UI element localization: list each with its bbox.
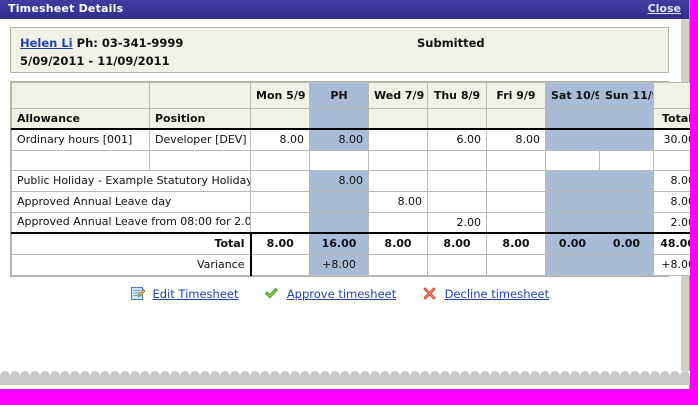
table-row-total: Total 8.00 16.00 8.00 8.00 8.00 0.00 0.0… bbox=[12, 233, 698, 254]
decline-timesheet-action[interactable]: Decline timesheet bbox=[422, 286, 549, 301]
spacer-ph bbox=[310, 150, 369, 170]
public-holiday-description: Public Holiday - Example Statutory Holid… bbox=[12, 170, 251, 191]
subheader-wed bbox=[369, 109, 428, 130]
torn-edge-decoration bbox=[0, 371, 690, 389]
spacer-sun bbox=[600, 150, 654, 170]
spacer-wed bbox=[369, 150, 428, 170]
al1-cell-sat bbox=[546, 191, 600, 212]
subheader-mon bbox=[251, 109, 310, 130]
employee-summary: Helen LiPh: 03-341-9999 5/09/2011 - 11/0… bbox=[20, 35, 183, 69]
entry-cell-thu[interactable]: 6.00 bbox=[428, 129, 487, 150]
close-link[interactable]: Close bbox=[648, 2, 681, 15]
al2-cell-sat bbox=[546, 212, 600, 233]
table-header-labels: Allowance Position Total bbox=[12, 109, 698, 130]
subheader-fri bbox=[487, 109, 546, 130]
table-row-annual-leave-partial: Approved Annual Leave from 08:00 for 2.0… bbox=[12, 212, 698, 233]
al1-cell-sun bbox=[600, 191, 654, 212]
day-header-thu: Thu 8/9 bbox=[428, 83, 487, 109]
spacer-fri bbox=[487, 150, 546, 170]
entry-allowance: Ordinary hours [001] bbox=[12, 129, 150, 150]
timesheet-table: Mon 5/9 PH Wed 7/9 Thu 8/9 Fri 9/9 Sat 1… bbox=[11, 82, 698, 276]
page-border-bottom bbox=[0, 389, 698, 405]
day-header-wed: Wed 7/9 bbox=[369, 83, 428, 109]
column-header-allowance: Allowance bbox=[12, 109, 150, 130]
total-cell-sun: 0.00 bbox=[600, 233, 654, 254]
cross-icon bbox=[422, 286, 437, 301]
day-header-mon: Mon 5/9 bbox=[251, 83, 310, 109]
al2-cell-wed bbox=[369, 212, 428, 233]
window-title: Timesheet Details bbox=[8, 2, 123, 15]
entry-cell-mon[interactable]: 8.00 bbox=[251, 129, 310, 150]
annual-leave-partial-description: Approved Annual Leave from 08:00 for 2.0… bbox=[12, 212, 251, 233]
edit-timesheet-label[interactable]: Edit Timesheet bbox=[152, 287, 238, 301]
variance-cell-thu bbox=[428, 254, 487, 275]
total-cell-thu: 8.00 bbox=[428, 233, 487, 254]
entry-cell-ph[interactable]: 8.00 bbox=[310, 129, 369, 150]
subheader-sun bbox=[600, 109, 654, 130]
status-badge: Submitted bbox=[417, 36, 485, 50]
window-body: Helen LiPh: 03-341-9999 5/09/2011 - 11/0… bbox=[0, 19, 681, 371]
ph-cell-mon bbox=[251, 170, 310, 191]
al1-cell-thu bbox=[428, 191, 487, 212]
subheader-thu bbox=[428, 109, 487, 130]
page-border-right bbox=[690, 0, 698, 405]
column-header-position: Position bbox=[150, 109, 251, 130]
table-header-days: Mon 5/9 PH Wed 7/9 Thu 8/9 Fri 9/9 Sat 1… bbox=[12, 83, 698, 109]
header-spacer-position bbox=[150, 83, 251, 109]
edit-timesheet-action[interactable]: Edit Timesheet bbox=[130, 286, 239, 301]
al2-cell-mon bbox=[251, 212, 310, 233]
variance-cell-mon bbox=[251, 254, 310, 275]
variance-cell-sun bbox=[600, 254, 654, 275]
spacer-sat bbox=[546, 150, 600, 170]
annual-leave-day-description: Approved Annual Leave day bbox=[12, 191, 251, 212]
variance-cell-ph: +8.00 bbox=[310, 254, 369, 275]
spacer-thu bbox=[428, 150, 487, 170]
day-header-ph: PH bbox=[310, 83, 369, 109]
approve-timesheet-action[interactable]: Approve timesheet bbox=[264, 286, 396, 301]
ph-cell-thu bbox=[428, 170, 487, 191]
entry-position: Developer [DEV] bbox=[150, 129, 251, 150]
entry-cell-fri[interactable]: 8.00 bbox=[487, 129, 546, 150]
table-row-annual-leave-day: Approved Annual Leave day 8.00 8.00 bbox=[12, 191, 698, 212]
ph-cell-fri bbox=[487, 170, 546, 191]
entry-cell-sat[interactable] bbox=[546, 129, 600, 150]
ph-cell-sun bbox=[600, 170, 654, 191]
employee-phone: Ph: 03-341-9999 bbox=[77, 36, 184, 50]
timesheet-table-container: Mon 5/9 PH Wed 7/9 Thu 8/9 Fri 9/9 Sat 1… bbox=[10, 81, 669, 277]
approve-timesheet-label[interactable]: Approve timesheet bbox=[287, 287, 396, 301]
table-row-entry: Ordinary hours [001] Developer [DEV] 8.0… bbox=[12, 129, 698, 150]
total-cell-wed: 8.00 bbox=[369, 233, 428, 254]
day-header-sun: Sun 11/9 bbox=[600, 83, 654, 109]
page-frame: Timesheet Details Close Helen LiPh: 03-3… bbox=[0, 0, 698, 405]
header-spacer-allowance bbox=[12, 83, 150, 109]
ph-cell-ph: 8.00 bbox=[310, 170, 369, 191]
edit-icon bbox=[130, 286, 145, 301]
subheader-sat bbox=[546, 109, 600, 130]
al1-cell-ph bbox=[310, 191, 369, 212]
spacer-position bbox=[150, 150, 251, 170]
total-cell-mon: 8.00 bbox=[251, 233, 310, 254]
al2-cell-thu: 2.00 bbox=[428, 212, 487, 233]
action-links: Edit Timesheet Approve timesheet bbox=[10, 286, 669, 301]
al2-cell-sun bbox=[600, 212, 654, 233]
torn-edge-scallops bbox=[0, 371, 690, 379]
window-titlebar: Timesheet Details Close bbox=[0, 0, 689, 19]
al2-cell-ph bbox=[310, 212, 369, 233]
employee-name-link[interactable]: Helen Li bbox=[20, 36, 73, 50]
table-row-spacer bbox=[12, 150, 698, 170]
spacer-mon bbox=[251, 150, 310, 170]
ph-cell-wed bbox=[369, 170, 428, 191]
total-cell-ph: 16.00 bbox=[310, 233, 369, 254]
variance-row-label: Variance bbox=[12, 254, 251, 275]
decline-timesheet-label[interactable]: Decline timesheet bbox=[445, 287, 550, 301]
total-cell-fri: 8.00 bbox=[487, 233, 546, 254]
table-row-variance: Variance +8.00 +8.00 bbox=[12, 254, 698, 275]
al1-cell-mon bbox=[251, 191, 310, 212]
al1-cell-wed: 8.00 bbox=[369, 191, 428, 212]
table-row-public-holiday: Public Holiday - Example Statutory Holid… bbox=[12, 170, 698, 191]
day-header-fri: Fri 9/9 bbox=[487, 83, 546, 109]
entry-cell-sun[interactable] bbox=[600, 129, 654, 150]
spacer-allowance bbox=[12, 150, 150, 170]
timesheet-period: 5/09/2011 - 11/09/2011 bbox=[20, 53, 183, 69]
variance-cell-sat bbox=[546, 254, 600, 275]
ph-cell-sat bbox=[546, 170, 600, 191]
total-cell-sat: 0.00 bbox=[546, 233, 600, 254]
variance-cell-wed bbox=[369, 254, 428, 275]
al2-cell-fri bbox=[487, 212, 546, 233]
day-header-sat: Sat 10/9 bbox=[546, 83, 600, 109]
al1-cell-fri bbox=[487, 191, 546, 212]
timesheet-details-window: Timesheet Details Close Helen LiPh: 03-3… bbox=[0, 0, 690, 393]
variance-cell-fri bbox=[487, 254, 546, 275]
entry-cell-wed[interactable] bbox=[369, 129, 428, 150]
employee-header-panel: Helen LiPh: 03-341-9999 5/09/2011 - 11/0… bbox=[10, 27, 669, 73]
subheader-ph bbox=[310, 109, 369, 130]
total-row-label: Total bbox=[12, 233, 251, 254]
check-icon bbox=[264, 286, 279, 301]
